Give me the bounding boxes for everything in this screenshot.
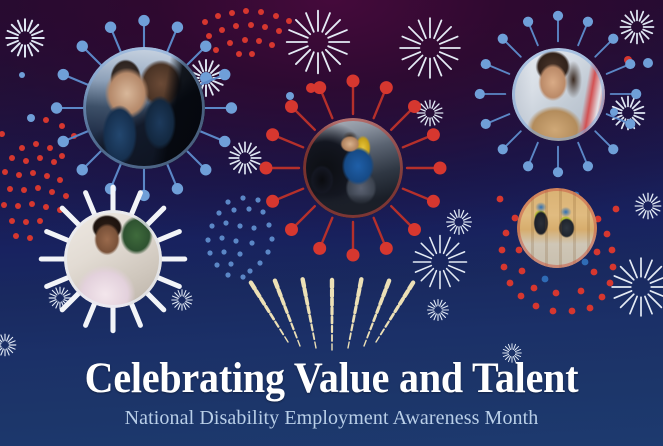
photo-construction-workers: [517, 188, 597, 268]
page-subtitle: National Disability Employment Awareness…: [0, 408, 663, 428]
poster-canvas: Celebrating Value and Talent National Di…: [0, 0, 663, 446]
photo-ring-border: [64, 210, 162, 308]
photo-ring-border: [303, 118, 403, 218]
photo-mechanic: [303, 118, 403, 218]
photo-office-pair: [83, 47, 205, 169]
photo-ring-border: [517, 188, 597, 268]
photo-smiling-woman: [512, 48, 605, 141]
photo-ring-border: [83, 47, 205, 169]
photo-thinking-woman: [64, 210, 162, 308]
page-title: Celebrating Value and Talent: [23, 357, 640, 400]
photo-ring-border: [512, 48, 605, 141]
